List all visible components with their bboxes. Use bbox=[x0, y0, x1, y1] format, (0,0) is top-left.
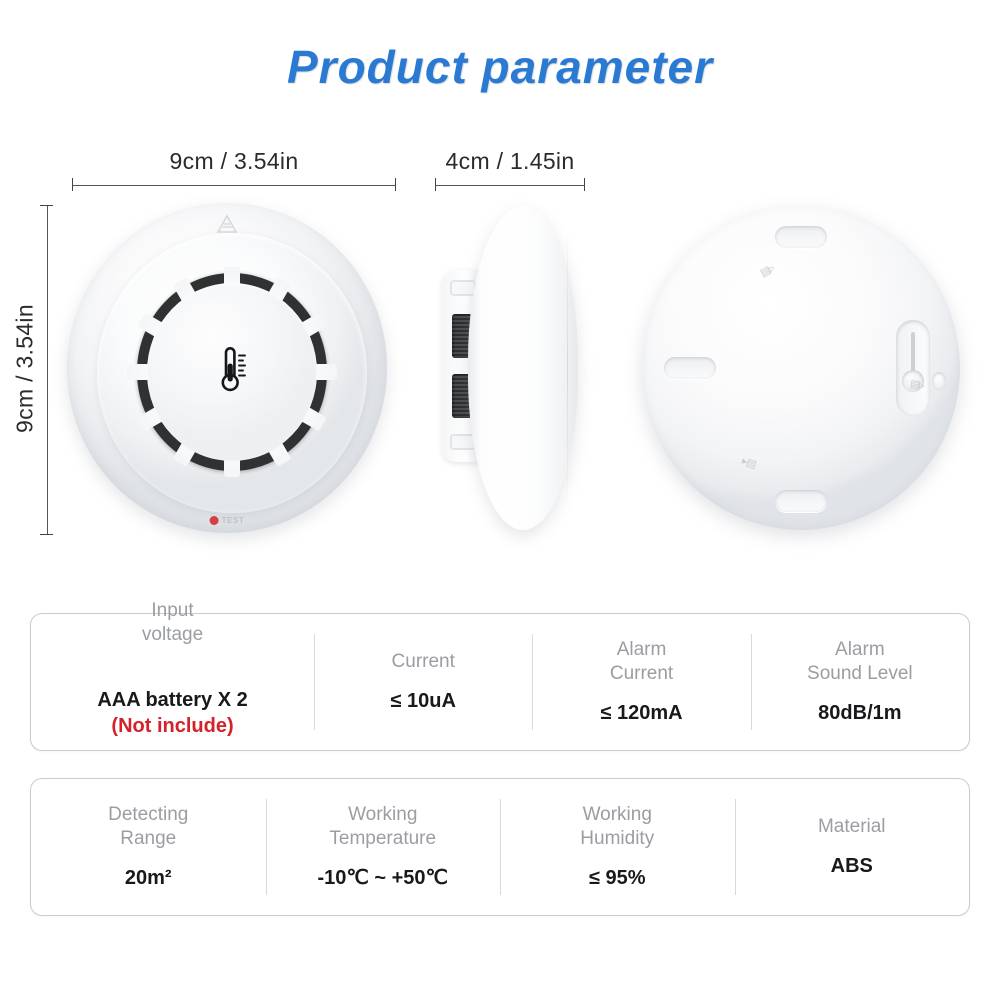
spec-cell-alarm-sound-level: Alarm Sound Level 80dB/1m bbox=[751, 614, 969, 750]
page-title: Product parameter bbox=[0, 40, 1000, 94]
front-inner-disc bbox=[147, 283, 317, 461]
spec-label: Alarm Current bbox=[610, 638, 673, 687]
dimension-label-side-depth: 4cm / 1.45in bbox=[430, 148, 590, 175]
spec-label: Detecting Range bbox=[108, 803, 188, 852]
spec-cell-current: Current ≤ 10uA bbox=[314, 614, 532, 750]
spec-value: AAA battery X 2 (Not include) bbox=[97, 661, 247, 765]
sound-wave-icon bbox=[212, 213, 242, 240]
spec-label: Working Temperature bbox=[329, 803, 436, 852]
side-clip-top bbox=[450, 280, 476, 296]
spec-value-note: (Not include) bbox=[97, 713, 247, 739]
spec-value: 20m² bbox=[125, 865, 172, 891]
spec-label: Input voltage bbox=[142, 599, 203, 648]
molding-mark-bottom: ▸▤ bbox=[740, 454, 757, 471]
mount-slot-left bbox=[664, 357, 716, 379]
product-front-view: TEST bbox=[62, 198, 392, 538]
screw-hole bbox=[932, 372, 946, 390]
spec-label: Working Humidity bbox=[580, 803, 654, 852]
spec-value: ≤ 120mA bbox=[600, 700, 682, 726]
mount-slot-bottom bbox=[775, 490, 827, 512]
test-button[interactable]: TEST bbox=[210, 516, 245, 525]
spec-value: 80dB/1m bbox=[818, 700, 901, 726]
spec-cell-alarm-current: Alarm Current ≤ 120mA bbox=[532, 614, 750, 750]
spec-value: ABS bbox=[831, 853, 873, 879]
spec-value: ≤ 10uA bbox=[390, 688, 455, 714]
mount-slot-top bbox=[775, 226, 827, 248]
product-back-view: ▤▹ ▸▤ ▤▹ bbox=[620, 198, 980, 538]
spec-cell-detecting-range: Detecting Range 20m² bbox=[31, 779, 266, 915]
test-label: TEST bbox=[222, 516, 245, 525]
mount-bracket-icon bbox=[896, 320, 930, 416]
spec-label: Material bbox=[818, 815, 886, 839]
spec-label: Alarm Sound Level bbox=[807, 638, 913, 687]
spec-value-main: AAA battery X 2 bbox=[97, 689, 247, 711]
spec-cell-input-voltage: Input voltage AAA battery X 2 (Not inclu… bbox=[31, 614, 314, 750]
spec-row-1: Input voltage AAA battery X 2 (Not inclu… bbox=[30, 613, 970, 751]
thermometer-icon bbox=[212, 342, 252, 403]
dimension-line-front-width bbox=[72, 178, 396, 191]
spec-cell-material: Material ABS bbox=[735, 779, 970, 915]
product-side-view bbox=[430, 198, 590, 538]
spec-value: ≤ 95% bbox=[589, 865, 646, 891]
test-indicator-dot bbox=[210, 516, 219, 525]
molding-mark-top: ▤▹ bbox=[758, 261, 776, 279]
dimension-line-side-depth bbox=[435, 178, 585, 191]
spec-cell-working-humidity: Working Humidity ≤ 95% bbox=[500, 779, 735, 915]
molding-mark-right: ▤▹ bbox=[909, 377, 925, 392]
dimension-label-front-height: 9cm / 3.54in bbox=[12, 204, 39, 534]
spec-cell-working-temperature: Working Temperature -10℃ ~ +50℃ bbox=[266, 779, 501, 915]
front-outer-shell: TEST bbox=[67, 203, 387, 533]
spec-row-2: Detecting Range 20m² Working Temperature… bbox=[30, 778, 970, 916]
side-body-shell bbox=[468, 206, 578, 530]
dimension-label-front-width: 9cm / 3.54in bbox=[72, 148, 396, 175]
back-plate: ▤▹ ▸▤ ▤▹ bbox=[642, 206, 960, 530]
dimension-line-front-height bbox=[40, 205, 53, 535]
spec-value: -10℃ ~ +50℃ bbox=[317, 865, 448, 891]
spec-label: Current bbox=[392, 650, 455, 674]
